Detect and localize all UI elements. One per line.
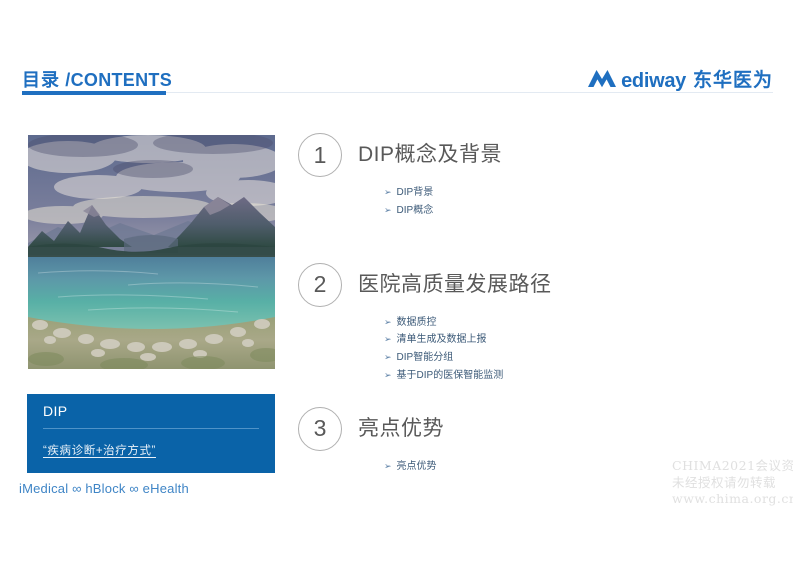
watermark-line-3: www.chima.org.cn <box>672 491 793 508</box>
list-item: ➢ 数据质控 <box>384 314 768 332</box>
list-item: ➢ DIP智能分组 <box>384 349 768 367</box>
agenda-bullets-2: ➢ 数据质控 ➢ 清单生成及数据上报 ➢ DIP智能分组 ➢ 基于DIP的医保智… <box>384 314 768 385</box>
agenda-item-2-head: 2 医院高质量发展路径 <box>298 263 768 307</box>
mediway-m-icon <box>587 68 617 93</box>
arrow-bullet-icon: ➢ <box>384 367 392 383</box>
page-title-en: /CONTENTS <box>60 70 172 90</box>
agenda-number-badge-1: 1 <box>298 133 342 177</box>
list-item: ➢ 清单生成及数据上报 <box>384 331 768 349</box>
list-item: ➢ DIP概念 <box>384 202 768 220</box>
agenda-list: 1 DIP概念及背景 ➢ DIP背景 ➢ DIP概念 2 医院高质量发展路径 <box>298 133 768 476</box>
copyright-watermark: CHIMA2021会议资料 未经授权请勿转载 www.chima.org.cn <box>672 458 793 508</box>
agenda-item-2[interactable]: 2 医院高质量发展路径 ➢ 数据质控 ➢ 清单生成及数据上报 ➢ DIP智能分组… <box>298 263 768 385</box>
agenda-heading-2: 医院高质量发展路径 <box>358 273 552 296</box>
arrow-bullet-icon: ➢ <box>384 349 392 365</box>
list-item: ➢ 基于DIP的医保智能监测 <box>384 367 768 385</box>
dip-card-divider <box>43 428 259 429</box>
agenda-item-1-head: 1 DIP概念及背景 <box>298 133 768 177</box>
arrow-bullet-icon: ➢ <box>384 314 392 330</box>
list-item-label: 清单生成及数据上报 <box>397 331 487 349</box>
dip-card-title: DIP <box>43 404 259 419</box>
agenda-number-badge-3: 3 <box>298 407 342 451</box>
arrow-bullet-icon: ➢ <box>384 184 392 200</box>
arrow-bullet-icon: ➢ <box>384 331 392 347</box>
list-item-label: 数据质控 <box>397 314 437 332</box>
page-title: 目录 /CONTENTS <box>22 66 172 92</box>
agenda-item-3-head: 3 亮点优势 <box>298 407 768 451</box>
logo-chinese-name: 东华医为 <box>693 71 773 90</box>
mountain-lake-photo <box>28 135 275 369</box>
header-accent-rule <box>22 91 166 95</box>
list-item-label: DIP背景 <box>397 184 434 202</box>
agenda-number-badge-2: 2 <box>298 263 342 307</box>
page-title-cn: 目录 <box>22 70 60 90</box>
agenda-bullets-1: ➢ DIP背景 ➢ DIP概念 <box>384 184 768 220</box>
slide-canvas: 目录 /CONTENTS ediway 东华医为 <box>0 0 793 561</box>
list-item-label: DIP智能分组 <box>397 349 454 367</box>
agenda-spacer <box>298 385 768 407</box>
arrow-bullet-icon: ➢ <box>384 458 392 474</box>
agenda-heading-1: DIP概念及背景 <box>358 143 502 166</box>
footer-tagline: iMedical ∞ hBlock ∞ eHealth <box>19 481 189 496</box>
agenda-item-1[interactable]: 1 DIP概念及背景 ➢ DIP背景 ➢ DIP概念 <box>298 133 768 220</box>
list-item-label: 基于DIP的医保智能监测 <box>397 367 504 385</box>
logo-wordmark: ediway <box>621 71 686 91</box>
watermark-line-1: CHIMA2021会议资料 <box>672 458 793 475</box>
agenda-heading-3: 亮点优势 <box>358 417 444 440</box>
dip-definition-card: DIP “疾病诊断+治疗方式” <box>27 394 275 473</box>
watermark-line-2: 未经授权请勿转载 <box>672 475 793 492</box>
arrow-bullet-icon: ➢ <box>384 202 392 218</box>
agenda-spacer <box>298 220 768 263</box>
dip-card-subtitle: “疾病诊断+治疗方式” <box>43 442 259 458</box>
list-item-label: DIP概念 <box>397 202 434 220</box>
brand-logo: ediway 东华医为 <box>587 68 773 93</box>
list-item-label: 亮点优势 <box>397 458 437 476</box>
list-item: ➢ DIP背景 <box>384 184 768 202</box>
